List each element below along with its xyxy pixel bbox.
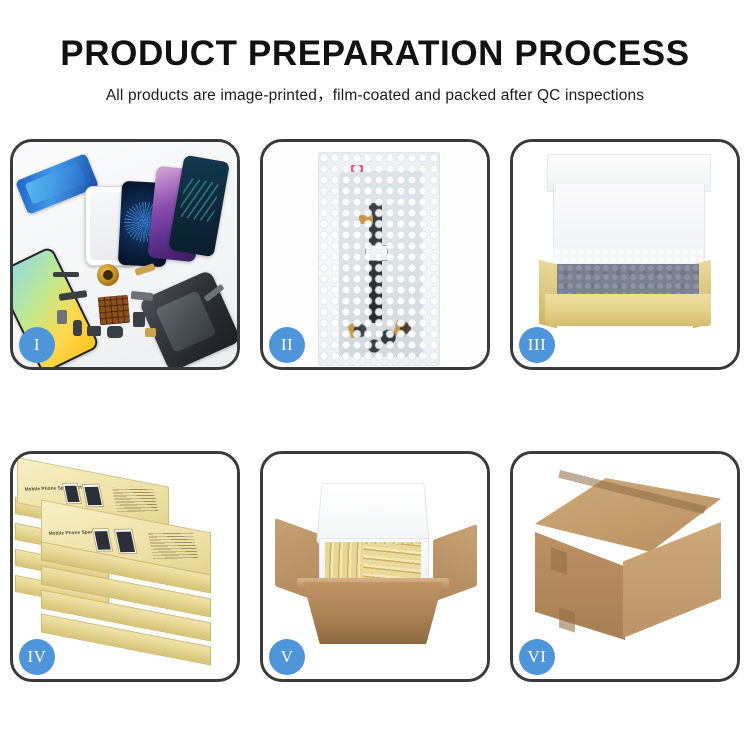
step-badge-1: I [19, 327, 55, 363]
process-step-2: II [260, 139, 490, 370]
step-badge-6: VI [519, 639, 555, 675]
chip-array-part [98, 295, 130, 326]
process-step-4: Mobile Phone Spare Parts Mobile Phone Sp… [10, 451, 240, 682]
camera-module-part [87, 326, 101, 336]
copper-coil-part [97, 264, 119, 286]
carton-tape-patch-lower [559, 607, 575, 632]
page-subtitle: All products are image-printed，film-coat… [0, 73, 750, 105]
step-badge-2: II [269, 327, 305, 363]
kraft-box-front [545, 294, 711, 326]
process-step-3: III [510, 139, 740, 370]
taptic-part [133, 312, 145, 327]
bubble-wrap-bag [318, 152, 440, 366]
box-spec-lines-upper [112, 487, 158, 512]
process-step-5: V [260, 451, 490, 682]
process-step-grid: I II [10, 139, 740, 682]
box-thumb-front-a [92, 528, 113, 552]
box-spec-lines-front [148, 531, 198, 558]
header: PRODUCT PREPARATION PROCESS All products… [0, 0, 750, 105]
foam-case-lid [316, 483, 430, 544]
step-badge-5: V [269, 639, 305, 675]
small-module-part [57, 310, 67, 324]
process-step-6: VI [510, 451, 740, 682]
carton-front-face [535, 532, 625, 640]
process-step-1: I [10, 139, 240, 370]
infographic-page: PRODUCT PREPARATION PROCESS All products… [0, 0, 750, 750]
battery-connector-part [73, 320, 82, 336]
page-title: PRODUCT PREPARATION PROCESS [0, 0, 750, 73]
box-thumb-front-b [114, 529, 138, 555]
opened-phone-housing [139, 270, 237, 367]
bubble-texture [319, 153, 439, 365]
box-thumb-upper-b [82, 484, 104, 508]
step-badge-4: IV [19, 639, 55, 675]
ribbon-part-a [53, 272, 79, 277]
speaker-part [107, 326, 123, 338]
packed-boxes-row-b [363, 544, 421, 582]
sim-tray-part [145, 328, 156, 337]
step-badge-3: III [519, 327, 555, 363]
antenna-part [131, 291, 154, 301]
carton-body [303, 582, 443, 644]
